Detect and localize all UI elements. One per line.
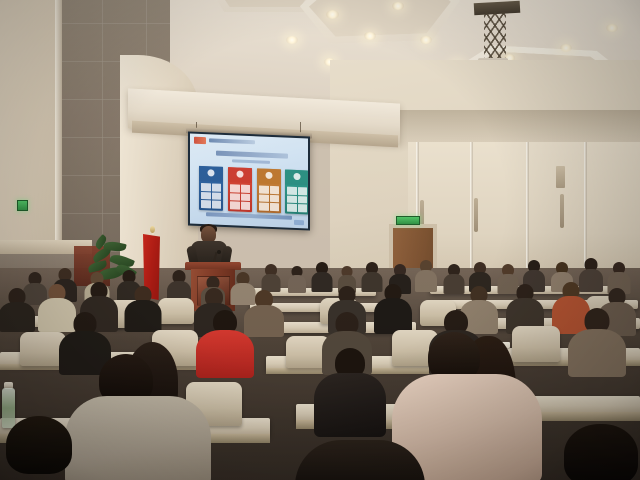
slide-panel-orange bbox=[257, 168, 281, 213]
attendee bbox=[262, 264, 280, 290]
downlight-icon bbox=[326, 10, 339, 19]
attendee-pink-hoodie bbox=[402, 332, 532, 480]
attendee bbox=[126, 286, 160, 330]
attendee bbox=[376, 284, 410, 332]
attendee bbox=[556, 424, 640, 480]
slide-panel-blue bbox=[199, 166, 223, 211]
attendee-grey-hoodie bbox=[78, 348, 198, 480]
projector-scissor-lift bbox=[484, 12, 506, 60]
exit-sign-right bbox=[396, 216, 420, 225]
attendee bbox=[572, 308, 622, 372]
slide-footer-text bbox=[206, 212, 292, 220]
slide-corner-mark bbox=[294, 220, 304, 225]
downlight-icon bbox=[286, 36, 298, 44]
slide-header-bar bbox=[209, 138, 255, 144]
attendee-dark-coat bbox=[318, 348, 382, 434]
slide-subtitle-text bbox=[232, 159, 270, 164]
slide-panel-red bbox=[228, 167, 252, 212]
attendee bbox=[312, 262, 332, 290]
downlight-icon bbox=[606, 24, 618, 32]
lecture-hall-photo bbox=[0, 0, 640, 480]
slide-title-text bbox=[216, 151, 288, 159]
attendee bbox=[288, 266, 306, 292]
chair bbox=[158, 298, 194, 324]
attendee bbox=[508, 284, 542, 332]
attendee bbox=[0, 416, 78, 480]
slide-logo-icon bbox=[194, 137, 206, 145]
microphone-icon bbox=[217, 250, 221, 254]
partition-wall bbox=[408, 142, 640, 272]
attendee bbox=[444, 264, 464, 292]
attendee bbox=[246, 290, 282, 334]
attendee bbox=[416, 260, 436, 290]
slide-panel-teal bbox=[285, 170, 308, 215]
attendee bbox=[300, 440, 420, 480]
downlight-icon bbox=[560, 44, 572, 52]
downlight-icon bbox=[392, 2, 404, 10]
downlight-icon bbox=[420, 36, 432, 44]
attendee bbox=[0, 288, 34, 330]
flag-finial-icon bbox=[150, 226, 155, 233]
projected-slide bbox=[190, 134, 308, 229]
exit-sign-left bbox=[17, 200, 28, 211]
attendee-red-jacket bbox=[200, 310, 250, 372]
projection-screen bbox=[188, 131, 310, 230]
downlight-icon bbox=[364, 32, 376, 40]
